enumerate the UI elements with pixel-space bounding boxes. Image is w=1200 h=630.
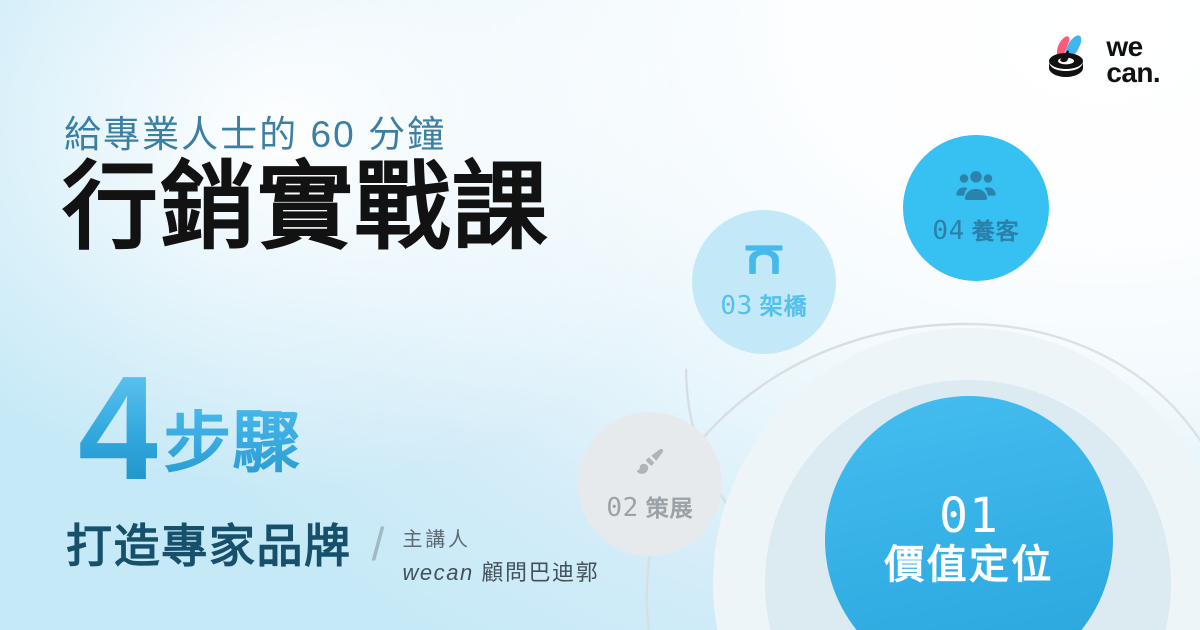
page-title: 行銷實戰課 — [62, 158, 549, 259]
step-count-unit: 步驟 — [163, 409, 300, 489]
step-number-03: 03 — [720, 293, 752, 319]
kicker-text: 給專業人士的 60 分鐘 — [64, 104, 446, 158]
speaker-credit: 主講人 wecan 顧問巴迪郭 — [402, 522, 599, 590]
speaker-name: wecan 顧問巴迪郭 — [402, 556, 599, 590]
step-circle-03[interactable]: 03 架橋 — [692, 210, 836, 354]
speaker-role: 主講人 — [402, 525, 599, 556]
step-name-02: 策展 — [646, 489, 694, 523]
divider-slash: / — [372, 520, 385, 568]
step-number-01: 01 — [939, 492, 999, 540]
step-circle-04[interactable]: 04 養客 — [903, 135, 1049, 281]
step-name-04: 養客 — [972, 212, 1020, 246]
step-name-03: 架橋 — [760, 287, 808, 321]
step-circle-02[interactable]: 02 策展 — [578, 412, 722, 556]
step-name-01: 價值定位 — [884, 542, 1054, 588]
bridge-icon — [744, 243, 784, 277]
step-count-number: 4 — [78, 368, 157, 489]
step-count-block: 4 步驟 — [78, 368, 301, 489]
step-label-02: 02 策展 — [606, 489, 693, 523]
promo-banner: 02 策展 03 架橋 04 養客 01 價值定位 — [0, 0, 1200, 630]
speaker-brand: wecan — [402, 560, 473, 585]
paintbrush-icon — [633, 445, 667, 479]
speaker-person: 顧問巴迪郭 — [481, 560, 599, 585]
step-label-04: 04 養客 — [932, 212, 1019, 246]
logo-wordmark: we can. — [1106, 34, 1160, 87]
brand-logo[interactable]: we can. — [1043, 34, 1160, 87]
step-number-04: 04 — [932, 218, 964, 244]
tagline-text: 打造專家品牌 — [66, 522, 352, 570]
step-number-02: 02 — [606, 495, 638, 521]
wecan-ribbon-logo-icon — [1043, 34, 1093, 86]
logo-line-2: can. — [1106, 60, 1160, 86]
step-label-03: 03 架橋 — [720, 287, 807, 321]
user-group-icon — [956, 171, 996, 201]
tagline-block: 打造專家品牌 / 主講人 wecan 顧問巴迪郭 — [66, 522, 599, 590]
